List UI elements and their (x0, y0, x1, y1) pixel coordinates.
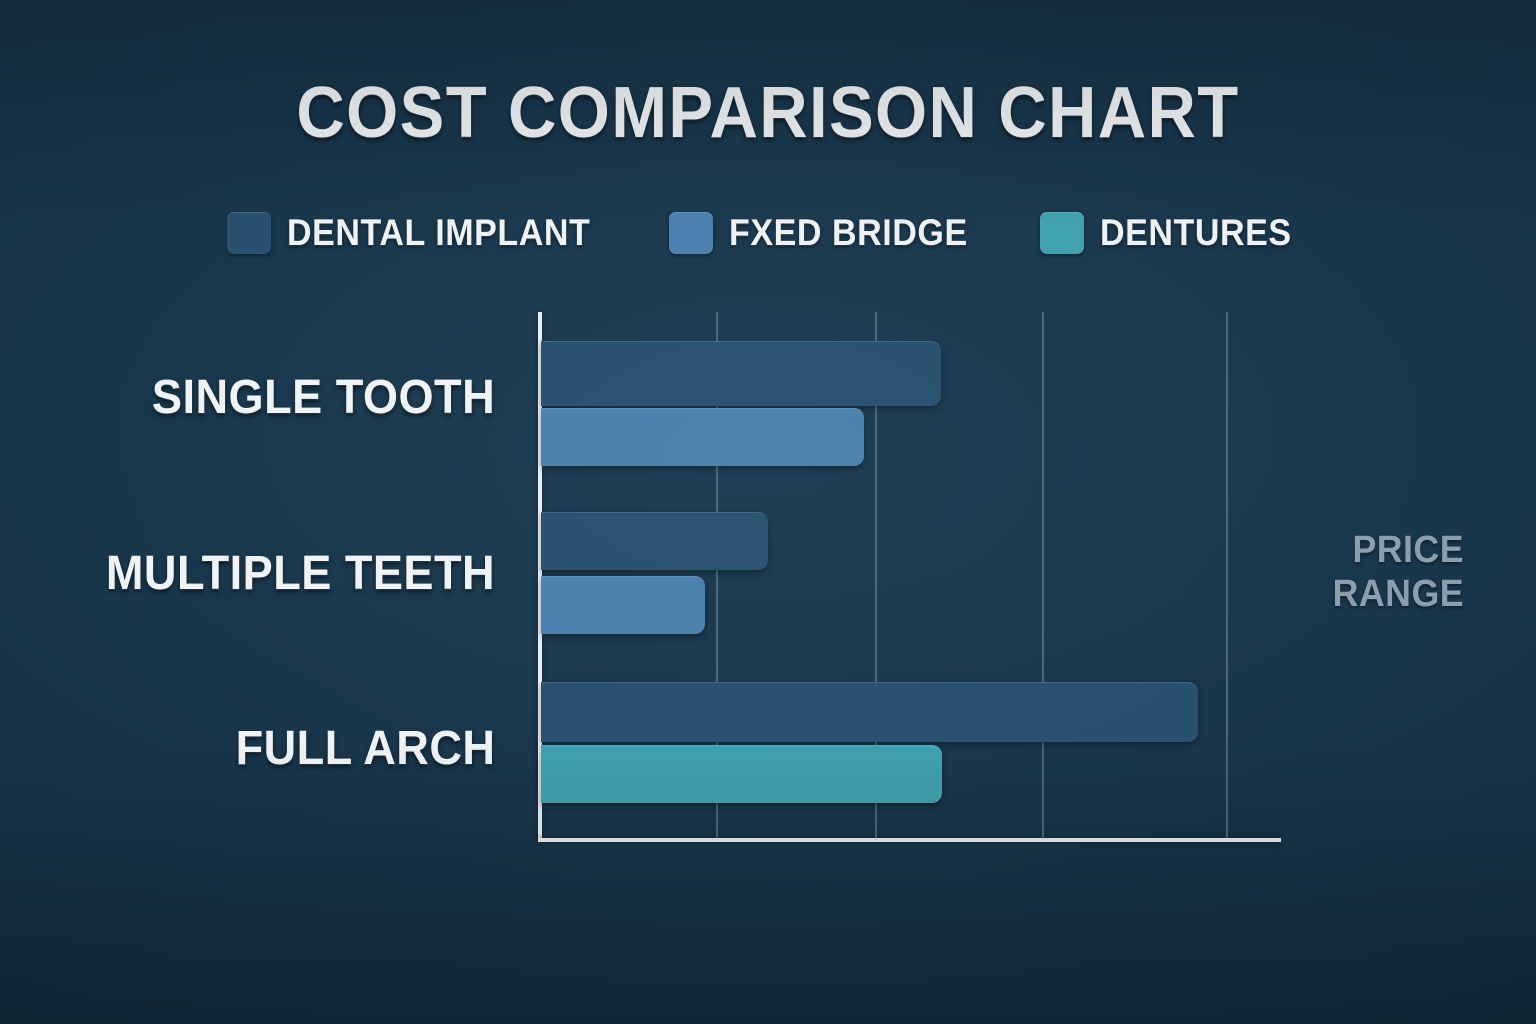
x-axis-line (538, 838, 1281, 842)
bar-multiple-teeth-dental-implant[interactable] (541, 512, 768, 570)
bar-full-arch-dentures[interactable] (541, 745, 942, 803)
bar-single-tooth-fxed-bridge[interactable] (541, 408, 864, 466)
legend-item-dental-implant[interactable]: DENTAL IMPLANT (227, 212, 617, 254)
gridline-3 (1042, 312, 1044, 840)
legend-swatch-icon (227, 212, 271, 254)
x-axis-caption: PRICE RANGE (1306, 528, 1464, 616)
legend-swatch-icon (669, 212, 713, 254)
chart-canvas: COST COMPARISON CHART DENTAL IMPLANT FXE… (0, 0, 1536, 1024)
legend-label: DENTURES (1100, 213, 1292, 253)
bar-multiple-teeth-fxed-bridge[interactable] (541, 576, 705, 634)
x-axis-caption-line2: RANGE (1306, 572, 1464, 616)
legend-label: FXED BRIDGE (729, 213, 968, 253)
legend-swatch-icon (1040, 212, 1084, 254)
category-label-multiple-teeth: MULTIPLE TEETH (106, 548, 495, 600)
plot-area (541, 312, 1281, 840)
chart-legend: DENTAL IMPLANT FXED BRIDGE DENTURES (0, 212, 1536, 254)
legend-item-dentures[interactable]: DENTURES (1040, 212, 1308, 254)
x-axis-caption-line1: PRICE (1306, 528, 1464, 572)
legend-label: DENTAL IMPLANT (287, 213, 590, 253)
gridline-4 (1226, 312, 1228, 840)
legend-item-fxed-bridge[interactable]: FXED BRIDGE (669, 212, 988, 254)
bar-full-arch-dental-implant[interactable] (541, 682, 1198, 742)
category-label-single-tooth: SINGLE TOOTH (152, 372, 495, 424)
category-label-full-arch: FULL ARCH (235, 723, 495, 775)
page-title: COST COMPARISON CHART (54, 74, 1482, 152)
bar-single-tooth-dental-implant[interactable] (541, 341, 941, 406)
